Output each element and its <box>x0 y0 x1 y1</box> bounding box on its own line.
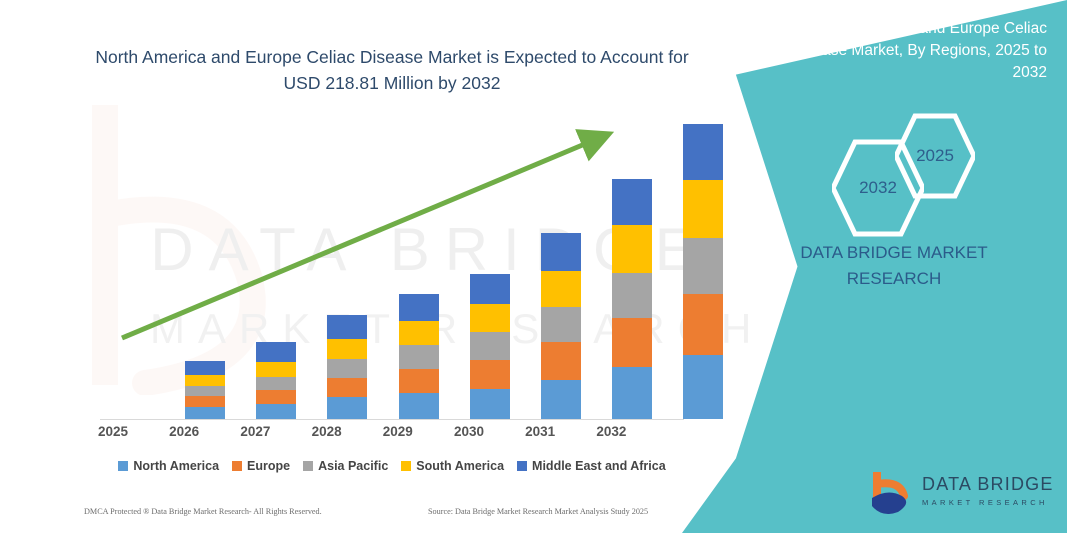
bar-2027 <box>327 315 367 419</box>
legend-label: North America <box>133 459 219 473</box>
bar-segment <box>399 393 439 419</box>
footer-source: Source: Data Bridge Market Research Mark… <box>428 507 648 516</box>
legend-label: Asia Pacific <box>318 459 388 473</box>
bar-segment <box>256 377 296 391</box>
legend-item[interactable]: Europe <box>232 459 290 473</box>
bar-segment <box>327 315 367 340</box>
x-label-2029: 2029 <box>368 424 428 439</box>
x-label-2025: 2025 <box>83 424 143 439</box>
hexagon-2025-label: 2025 <box>916 146 954 166</box>
dbmr-logo-text: DATA BRIDGE MARKET RESEARCH <box>922 474 1054 507</box>
bar-2028 <box>399 294 439 419</box>
dbmr-logo-name: DATA BRIDGE <box>922 474 1054 495</box>
bar-segment <box>256 342 296 362</box>
x-axis-line <box>100 419 684 420</box>
hexagon-2032-label: 2032 <box>859 178 897 198</box>
panel-brand: DATA BRIDGE MARKET RESEARCH <box>749 240 1039 291</box>
bar-segment <box>683 180 723 238</box>
legend-item[interactable]: North America <box>118 459 219 473</box>
infographic-root: DATA BRIDGE MARKET RESEARCH North Americ… <box>0 0 1067 533</box>
legend-swatch-icon <box>401 461 411 471</box>
bar-segment <box>683 238 723 294</box>
x-label-2026: 2026 <box>154 424 214 439</box>
bar-segment <box>470 274 510 304</box>
x-axis-labels: 20252026202720282029203020312032 <box>0 424 600 444</box>
bar-segment <box>683 355 723 419</box>
bar-2031 <box>612 179 652 419</box>
bar-segment <box>470 304 510 333</box>
footer-copyright: DMCA Protected ® Data Bridge Market Rese… <box>84 507 322 516</box>
bar-segment <box>256 390 296 404</box>
x-label-2027: 2027 <box>225 424 285 439</box>
bar-segment <box>541 380 581 419</box>
bar-segment <box>185 396 225 407</box>
footer: DMCA Protected ® Data Bridge Market Rese… <box>0 507 700 525</box>
hexagon-2025: 2025 <box>895 112 975 200</box>
x-label-2030: 2030 <box>439 424 499 439</box>
page-title: North America and Europe Celiac Disease … <box>92 44 692 97</box>
chart-legend: North AmericaEuropeAsia PacificSouth Ame… <box>92 459 692 473</box>
bar-segment <box>399 369 439 394</box>
bar-segment <box>327 339 367 359</box>
bar-segment <box>541 342 581 379</box>
bar-segment <box>612 318 652 367</box>
bar-segment <box>185 407 225 419</box>
bar-segment <box>470 360 510 389</box>
bar-segment <box>185 375 225 386</box>
bar-segment <box>327 378 367 398</box>
bar-2030 <box>541 233 581 419</box>
bar-segment <box>470 389 510 419</box>
bar-segment <box>541 233 581 270</box>
legend-label: South America <box>416 459 504 473</box>
legend-label: Europe <box>247 459 290 473</box>
bar-2029 <box>470 274 510 419</box>
bar-segment <box>612 179 652 225</box>
legend-swatch-icon <box>303 461 313 471</box>
x-label-2028: 2028 <box>297 424 357 439</box>
bar-segment <box>612 273 652 318</box>
legend-item[interactable]: Asia Pacific <box>303 459 388 473</box>
bar-2026 <box>256 342 296 419</box>
bar-group <box>92 120 692 419</box>
bar-segment <box>399 345 439 369</box>
bar-segment <box>470 332 510 360</box>
bar-segment <box>683 124 723 180</box>
bar-segment <box>327 359 367 378</box>
bar-segment <box>256 404 296 419</box>
dbmr-logo-tagline: MARKET RESEARCH <box>922 498 1054 507</box>
legend-label: Middle East and Africa <box>532 459 666 473</box>
bar-segment <box>612 225 652 272</box>
bar-segment <box>541 307 581 342</box>
bar-segment <box>327 397 367 419</box>
dbmr-logo-mark-icon <box>868 470 916 516</box>
stacked-bar-chart <box>92 120 692 420</box>
dbmr-logo: DATA BRIDGE MARKET RESEARCH <box>868 470 1048 518</box>
panel-title: North America and Europe Celiac Disease … <box>757 18 1047 84</box>
bar-segment <box>256 362 296 377</box>
legend-item[interactable]: Middle East and Africa <box>517 459 666 473</box>
bar-segment <box>399 321 439 346</box>
panel-brand-line2: RESEARCH <box>749 266 1039 292</box>
legend-item[interactable]: South America <box>401 459 504 473</box>
bar-segment <box>541 271 581 307</box>
panel-brand-line1: DATA BRIDGE MARKET <box>749 240 1039 266</box>
legend-swatch-icon <box>517 461 527 471</box>
bar-segment <box>185 386 225 397</box>
x-label-2032: 2032 <box>581 424 641 439</box>
bar-segment <box>185 361 225 375</box>
legend-swatch-icon <box>232 461 242 471</box>
legend-swatch-icon <box>118 461 128 471</box>
bar-segment <box>683 294 723 355</box>
bar-segment <box>612 367 652 419</box>
x-label-2031: 2031 <box>510 424 570 439</box>
bar-2025 <box>185 361 225 419</box>
bar-2032 <box>683 124 723 419</box>
bar-segment <box>399 294 439 321</box>
